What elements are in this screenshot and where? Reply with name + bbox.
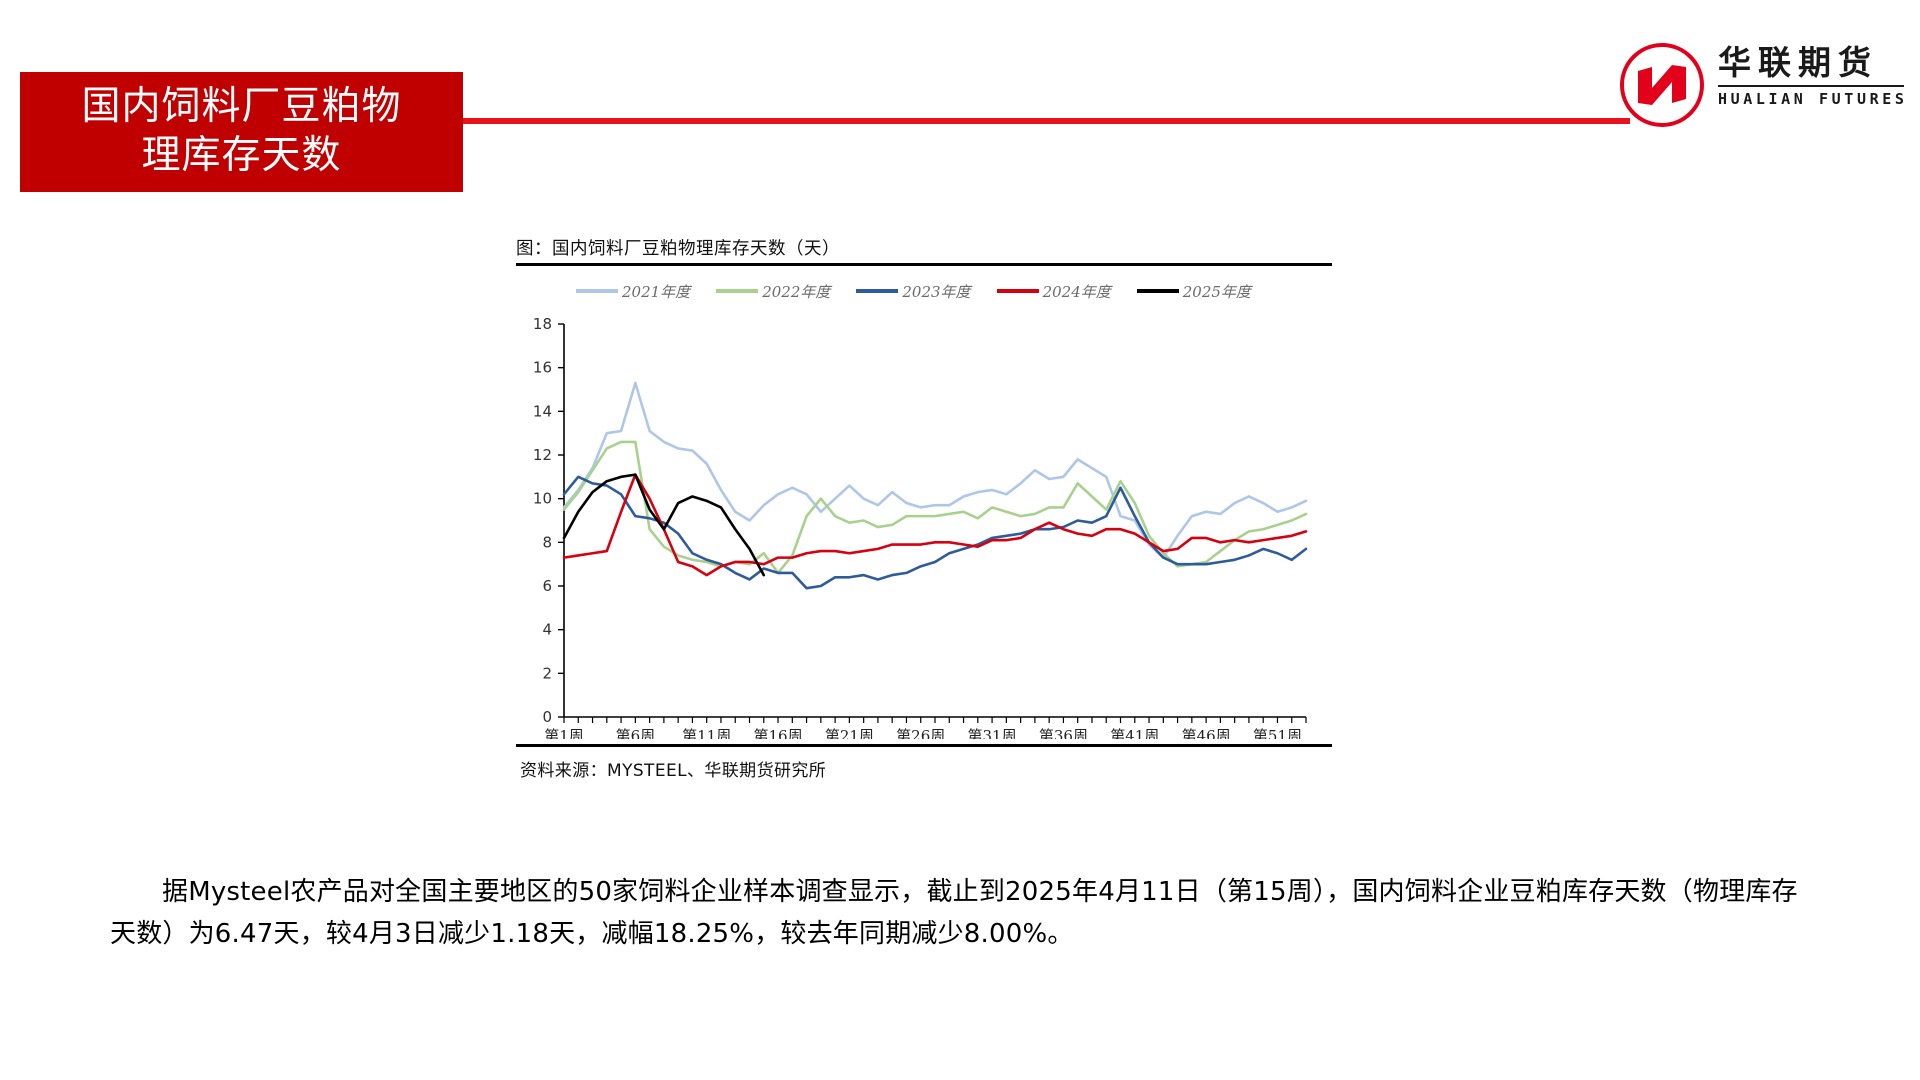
x-tick-label: 第31周 bbox=[968, 727, 1017, 739]
y-tick-label: 6 bbox=[542, 577, 552, 595]
x-tick-label: 第51周 bbox=[1253, 727, 1302, 739]
legend-item-2023[interactable]: 2023年度 bbox=[856, 281, 970, 302]
company-logo: 华联期货 HUALIAN FUTURES bbox=[1618, 38, 1908, 130]
y-tick-label: 10 bbox=[533, 490, 552, 508]
logo-wordmark: 华联期货 HUALIAN FUTURES bbox=[1718, 42, 1908, 108]
figure-caption: 图：国内饲料厂豆粕物理库存天数（天） bbox=[516, 236, 1332, 262]
legend-label-2022: 2022年度 bbox=[762, 281, 830, 302]
y-tick-label: 4 bbox=[542, 621, 552, 639]
legend-item-2024[interactable]: 2024年度 bbox=[997, 281, 1111, 302]
chart-series-group bbox=[564, 383, 1306, 588]
legend-swatch-2025 bbox=[1137, 289, 1179, 293]
logo-english-name: HUALIAN FUTURES bbox=[1718, 90, 1908, 108]
figure-container: 图：国内饲料厂豆粕物理库存天数（天） 2021年度 2022年度 2023年度 … bbox=[516, 236, 1332, 801]
x-tick-label: 第21周 bbox=[825, 727, 874, 739]
x-tick-label: 第46周 bbox=[1182, 727, 1231, 739]
logo-chinese-name: 华联期货 bbox=[1718, 42, 1908, 83]
series-line-2023年度 bbox=[564, 477, 1306, 588]
body-paragraph: 据Mysteel农产品对全国主要地区的50家饲料企业样本调查显示，截止到2025… bbox=[110, 871, 1820, 955]
hualian-n-mark-icon bbox=[1618, 41, 1706, 129]
x-tick-label: 第41周 bbox=[1110, 727, 1159, 739]
figure-bottom-rule bbox=[516, 744, 1332, 747]
x-tick-label: 第16周 bbox=[753, 727, 802, 739]
y-tick-label: 16 bbox=[533, 359, 552, 377]
legend-label-2021: 2021年度 bbox=[622, 281, 690, 302]
y-tick-label: 18 bbox=[533, 315, 552, 333]
figure-source: 资料来源：MYSTEEL、华联期货研究所 bbox=[520, 756, 826, 781]
legend-swatch-2022 bbox=[716, 289, 758, 293]
y-tick-label: 8 bbox=[542, 533, 552, 551]
legend-swatch-2021 bbox=[576, 289, 618, 293]
y-tick-label: 2 bbox=[542, 664, 552, 682]
series-line-2024年度 bbox=[564, 475, 1306, 575]
chart-svg: 024681012141618 第1周第6周第11周第16周第21周第26周第3… bbox=[516, 314, 1332, 739]
legend-swatch-2024 bbox=[997, 289, 1039, 293]
series-line-2025年度 bbox=[564, 475, 764, 575]
logo-divider bbox=[1718, 85, 1904, 87]
x-tick-label: 第26周 bbox=[896, 727, 945, 739]
page-title-banner: 国内饲料厂豆粕物 理库存天数 bbox=[20, 72, 463, 192]
x-tick-label: 第11周 bbox=[682, 727, 731, 739]
y-tick-label: 12 bbox=[533, 446, 552, 464]
y-tick-label: 0 bbox=[542, 708, 552, 726]
legend-item-2025[interactable]: 2025年度 bbox=[1137, 281, 1251, 302]
legend-item-2021[interactable]: 2021年度 bbox=[576, 281, 690, 302]
y-axis-ticks: 024681012141618 bbox=[533, 315, 564, 726]
x-tick-label: 第6周 bbox=[616, 727, 656, 739]
figure-top-rule bbox=[516, 263, 1332, 266]
page-title-line-1: 国内饲料厂豆粕物 bbox=[81, 83, 401, 132]
chart-legend: 2021年度 2022年度 2023年度 2024年度 2025年度 bbox=[576, 278, 1276, 304]
header-accent-rule bbox=[455, 118, 1630, 124]
y-tick-label: 14 bbox=[533, 402, 552, 420]
page-title-line-2: 理库存天数 bbox=[81, 132, 401, 181]
legend-label-2023: 2023年度 bbox=[902, 281, 970, 302]
line-chart: 024681012141618 第1周第6周第11周第16周第21周第26周第3… bbox=[516, 314, 1332, 739]
x-tick-label: 第36周 bbox=[1039, 727, 1088, 739]
page-title: 国内饲料厂豆粕物 理库存天数 bbox=[81, 83, 401, 181]
legend-item-2022[interactable]: 2022年度 bbox=[716, 281, 830, 302]
legend-label-2024: 2024年度 bbox=[1043, 281, 1111, 302]
x-tick-label: 第1周 bbox=[544, 727, 584, 739]
legend-swatch-2023 bbox=[856, 289, 898, 293]
x-axis-ticks: 第1周第6周第11周第16周第21周第26周第31周第36周第41周第46周第5… bbox=[544, 717, 1306, 739]
legend-label-2025: 2025年度 bbox=[1183, 281, 1251, 302]
